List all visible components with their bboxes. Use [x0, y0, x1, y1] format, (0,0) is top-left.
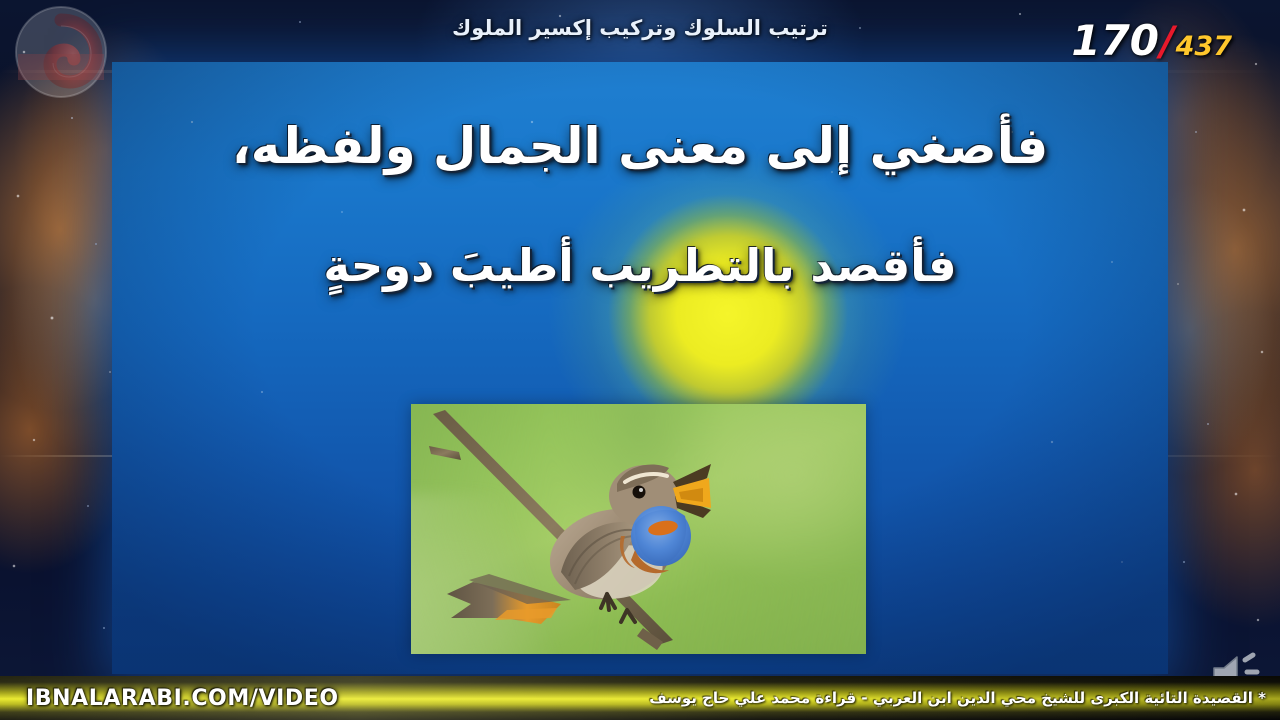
- video-slide-stage: فأصغي إلى معنى الجمال ولفظه، فأقصد بالتط…: [0, 0, 1280, 720]
- bluethroat-bird-illustration: [411, 404, 866, 654]
- bird-photo: [411, 404, 866, 654]
- credit-label: * القصيدة التائية الكبرى للشيخ محي الدين…: [649, 689, 1266, 707]
- ibn-arabi-logo-icon: [6, 4, 116, 100]
- verse-line-2: فأقصد بالتطريب أطيبَ دوحةٍ: [112, 240, 1168, 292]
- footer-bar: IBNALARABI.COM/VIDEO * القصيدة التائية ا…: [0, 676, 1280, 720]
- site-url-label[interactable]: IBNALARABI.COM/VIDEO: [26, 686, 339, 711]
- verse-container: فأصغي إلى معنى الجمال ولفظه، فأقصد بالتط…: [112, 118, 1168, 291]
- verse-line-1: فأصغي إلى معنى الجمال ولفظه،: [112, 118, 1168, 176]
